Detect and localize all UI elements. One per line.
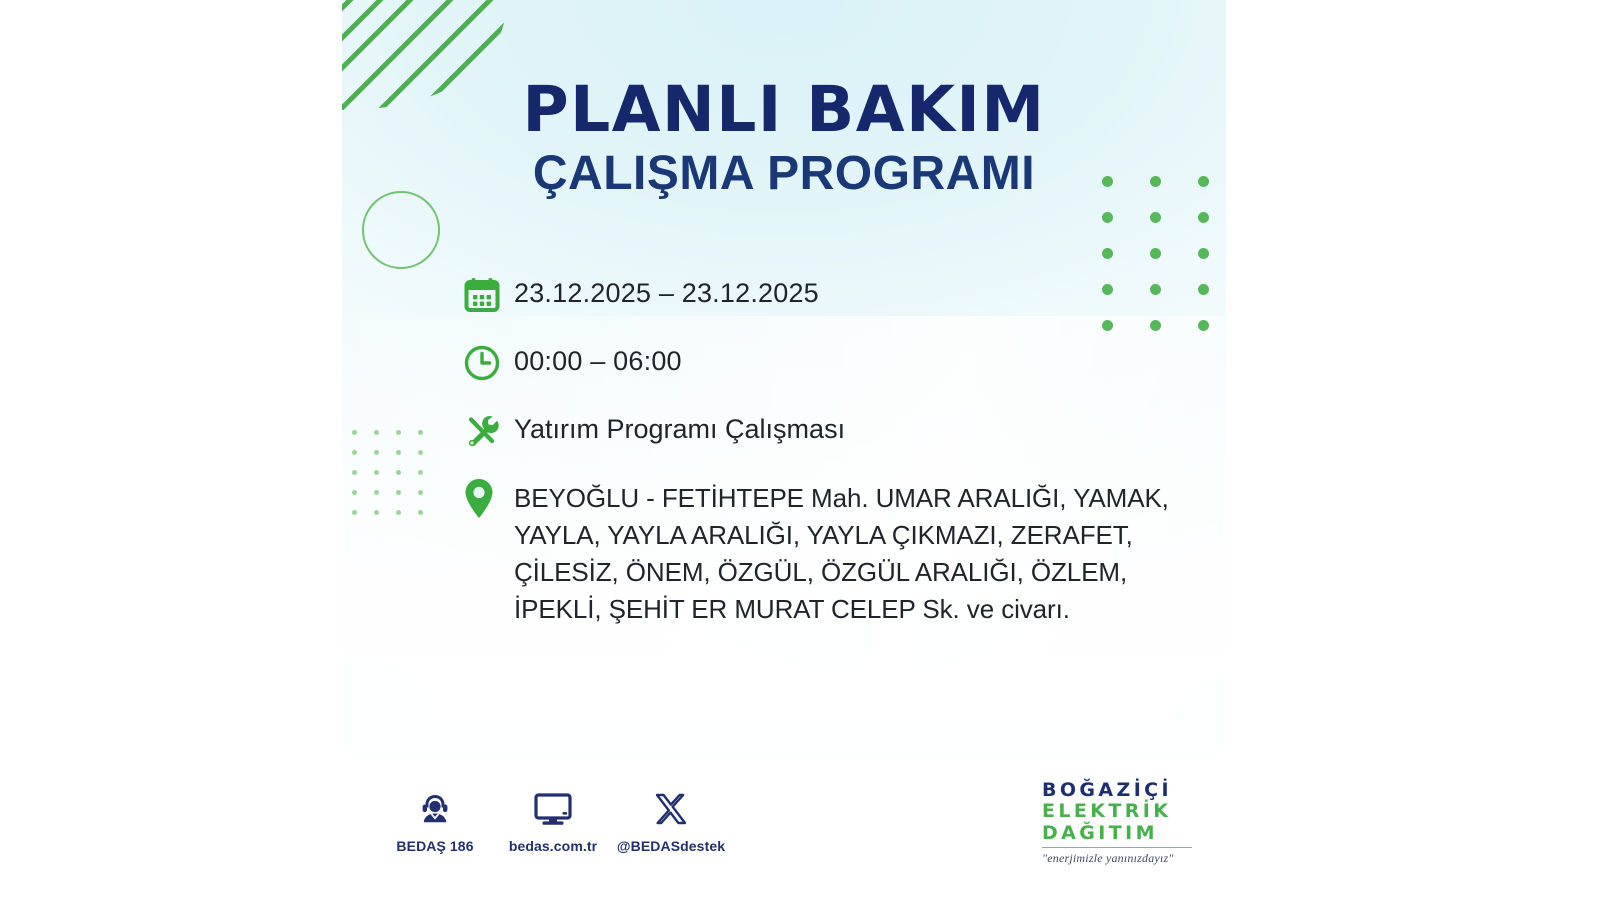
brand-line-elektrik: ELEKTRİK: [1042, 801, 1214, 822]
brand-tagline: "enerjimizle yanınızdayız": [1042, 851, 1214, 866]
detail-value-date: 23.12.2025 – 23.12.2025: [514, 272, 819, 311]
outage-details-list: 23.12.2025 – 23.12.2025 00:00 – 06:00: [462, 272, 1202, 628]
page-title: PLANLI BAKIM: [342, 78, 1226, 141]
page-subtitle: ÇALIŞMA PROGRAMI: [342, 149, 1226, 199]
clock-icon: [462, 340, 514, 386]
tools-icon: [462, 408, 514, 454]
brand-logo: BOĞAZİÇİ ELEKTRİK DAĞITIM "enerjimizle y…: [1042, 780, 1214, 866]
contact-label-social: @BEDASdestek: [612, 838, 730, 854]
x-twitter-icon: [612, 786, 730, 832]
brand-line-bogazici: BOĞAZİÇİ: [1042, 780, 1214, 801]
contact-label-phone: BEDAŞ 186: [376, 838, 494, 854]
monitor-icon: [494, 786, 612, 832]
brand-divider: [1042, 847, 1192, 848]
poster-root: PLANLI BAKIM ÇALIŞMA PROGRAMI: [0, 0, 1600, 900]
detail-row-work-type: Yatırım Programı Çalışması: [462, 408, 1202, 454]
dot-grid-decoration-left: [352, 430, 440, 530]
circle-outline-decoration: [362, 191, 440, 269]
footer-contact-bar: BEDAŞ 186 bedas.com.tr: [376, 786, 730, 854]
detail-value-time: 00:00 – 06:00: [514, 340, 682, 379]
contact-label-website: bedas.com.tr: [494, 838, 612, 854]
detail-row-date: 23.12.2025 – 23.12.2025: [462, 272, 1202, 318]
detail-row-time: 00:00 – 06:00: [462, 340, 1202, 386]
location-pin-icon: [462, 476, 514, 522]
poster-heading: PLANLI BAKIM ÇALIŞMA PROGRAMI: [342, 78, 1226, 199]
detail-value-work-type: Yatırım Programı Çalışması: [514, 408, 845, 447]
brand-line-dagitim: DAĞITIM: [1042, 823, 1214, 844]
detail-value-address: BEYOĞLU - FETİHTEPE Mah. UMAR ARALIĞI, Y…: [514, 476, 1169, 628]
support-agent-icon: [376, 786, 494, 832]
detail-row-address: BEYOĞLU - FETİHTEPE Mah. UMAR ARALIĞI, Y…: [462, 476, 1202, 628]
contact-item-social[interactable]: @BEDASdestek: [612, 786, 730, 854]
calendar-icon: [462, 272, 514, 318]
contact-item-website[interactable]: bedas.com.tr: [494, 786, 612, 854]
poster-card: PLANLI BAKIM ÇALIŞMA PROGRAMI: [342, 0, 1226, 878]
contact-item-phone[interactable]: BEDAŞ 186: [376, 786, 494, 854]
